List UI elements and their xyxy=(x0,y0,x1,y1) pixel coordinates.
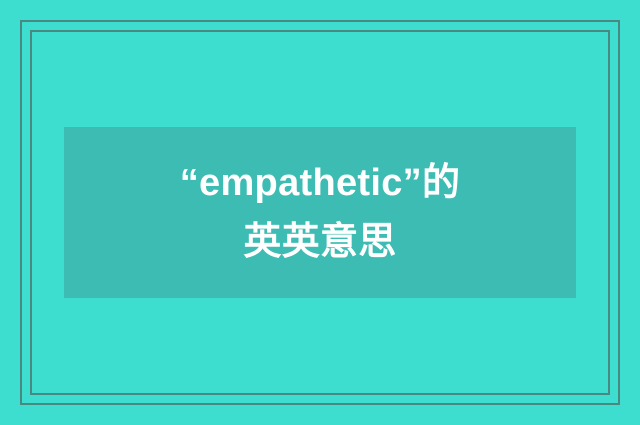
poster-canvas: “empathetic”的英英意思 xyxy=(0,0,640,425)
title-panel: “empathetic”的英英意思 xyxy=(64,127,576,298)
page-title: “empathetic”的英英意思 xyxy=(176,154,464,272)
